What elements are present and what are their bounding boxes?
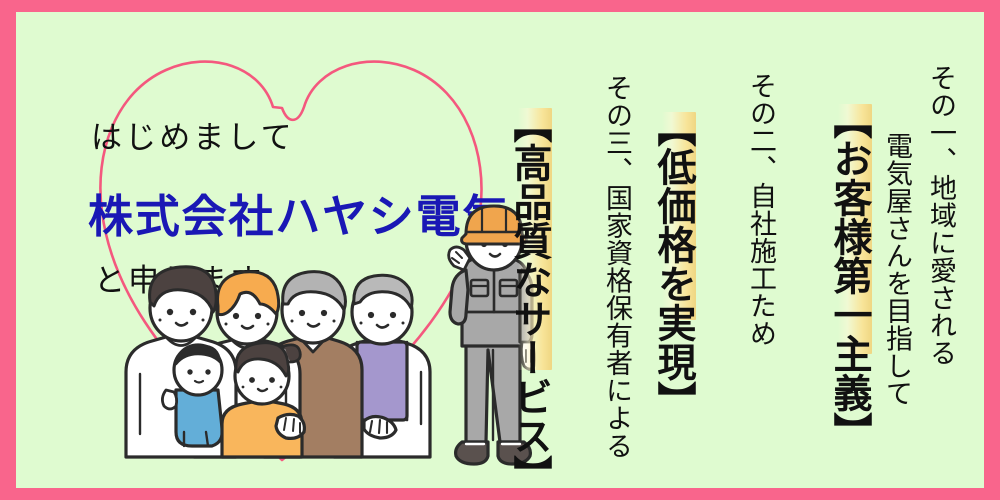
point-three-headline: 【高品質なサービス】 [507,104,552,494]
banner-stage: はじめまして 株式会社ハヤシ電気 と申します。 [16,12,984,488]
girl-figure [222,343,304,457]
grandma-figure [334,275,430,457]
point-one-headline: 【お客様第一主義】 [827,100,872,451]
company-name: 株式会社ハヤシ電気 [88,180,509,245]
point-one-lead-2: 電気屋さんを目指して [881,132,912,407]
greeting-line-3: と申します。 [94,255,296,300]
point-three-lead-1: その三、国家資格保有者による [601,74,632,460]
point-one-lead-1: その一、地域に愛される [925,64,956,367]
greeting-line-1: はじめまして [91,112,295,157]
point-two-headline: 【低価格を実現】 [651,108,696,420]
point-two-lead-1: その二、自社施工ため [745,72,776,347]
baby-figure [162,345,222,446]
banner-root: はじめまして 株式会社ハヤシ電気 と申します。 [0,0,1000,500]
